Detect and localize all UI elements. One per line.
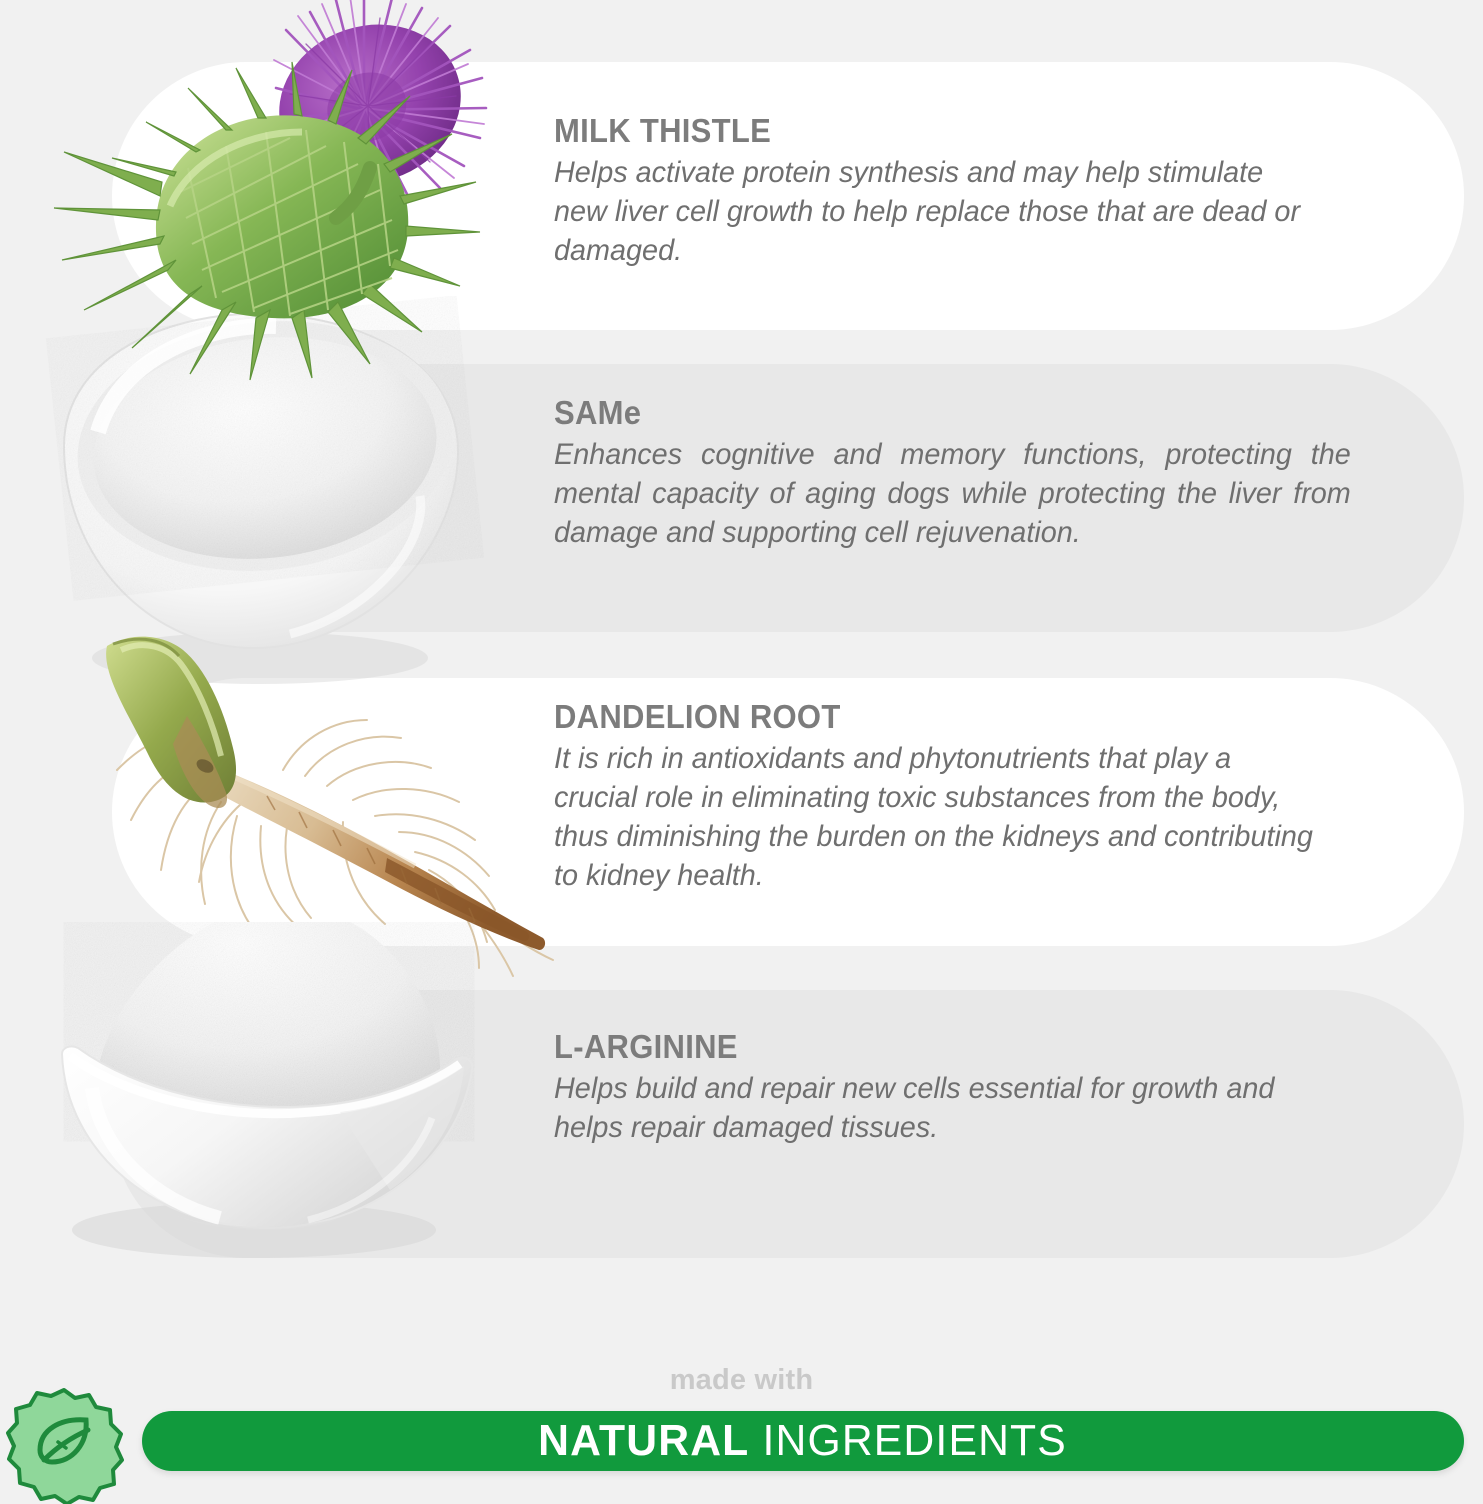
ingredient-description: Helps build and repair new cells essenti… [554,1069,1322,1147]
ingredient-title: MILK THISTLE [554,114,1306,147]
ingredient-card-text: L-ARGININE Helps build and repair new ce… [554,1030,1354,1147]
made-with-label: made with [0,1364,1483,1397]
natural-ingredients-banner: NATURAL INGREDIENTS [142,1411,1464,1471]
ingredient-title: DANDELION ROOT [554,700,1306,733]
milk-thistle-flower-photo [40,0,550,382]
ingredient-description: It is rich in antioxidants and phytonutr… [554,739,1322,895]
banner-regular-word: INGREDIENTS [763,1416,1067,1465]
ingredient-card-text: MILK THISTLE Helps activate protein synt… [554,114,1354,270]
banner-bold-word: NATURAL [539,1416,750,1465]
l-arginine-powder-bowl-photo [40,922,520,1267]
infographic-stage: MILK THISTLE Helps activate protein synt… [0,0,1483,1500]
ingredient-title: L-ARGININE [554,1030,1306,1063]
leaf-badge-icon [6,1386,124,1504]
ingredient-description: Helps activate protein synthesis and may… [554,153,1322,270]
ingredient-card-text: SAMe Enhances cognitive and memory funct… [554,396,1354,552]
ingredient-description: Enhances cognitive and memory functions,… [554,435,1351,552]
ingredient-title: SAMe [554,396,1306,429]
banner-text: NATURAL INGREDIENTS [539,1416,1068,1466]
ingredient-card-text: DANDELION ROOT It is rich in antioxidant… [554,700,1354,895]
